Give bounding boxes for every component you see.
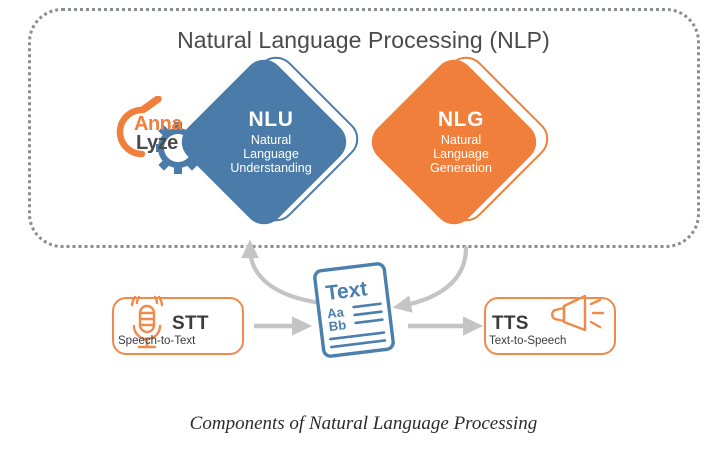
- tts-abbr: TTS: [492, 313, 529, 335]
- arrow-text-to-nlu: [250, 248, 321, 303]
- diagram-canvas: Natural Language Processing (NLP) NLU Na…: [0, 0, 727, 457]
- nlu-line1: Natural: [251, 133, 291, 147]
- nlp-title: Natural Language Processing (NLP): [0, 27, 727, 54]
- nlu-line2: Language: [243, 147, 299, 161]
- nlg-abbr: NLG: [438, 109, 484, 130]
- tts-label: Text-to-Speech: [489, 335, 566, 347]
- stt-abbr: STT: [172, 313, 209, 335]
- nlg-text-block: NLG Natural Language Generation: [390, 75, 532, 209]
- nlu-abbr: NLU: [249, 109, 294, 130]
- text-document-icon: Text Aa Bb: [311, 260, 398, 361]
- nlg-line3: Generation: [430, 161, 492, 175]
- text-document[interactable]: Text Aa Bb: [311, 260, 398, 361]
- figure-caption: Components of Natural Language Processin…: [0, 413, 727, 435]
- svg-text:Bb: Bb: [328, 317, 347, 334]
- arrow-nlg-to-text: [401, 248, 466, 306]
- node-nlu[interactable]: NLU Natural Language Understanding: [200, 75, 350, 225]
- node-nlg[interactable]: NLG Natural Language Generation: [390, 75, 540, 225]
- stt-label: Speech-to-Text: [118, 335, 195, 347]
- logo-text-lyze: Lyze: [136, 132, 178, 155]
- nlu-line3: Understanding: [230, 161, 311, 175]
- nlg-line2: Language: [433, 147, 489, 161]
- nlu-text-block: NLU Natural Language Understanding: [200, 75, 342, 209]
- nlg-line1: Natural: [441, 133, 481, 147]
- annalyze-logo: Anna Lyze: [100, 96, 208, 176]
